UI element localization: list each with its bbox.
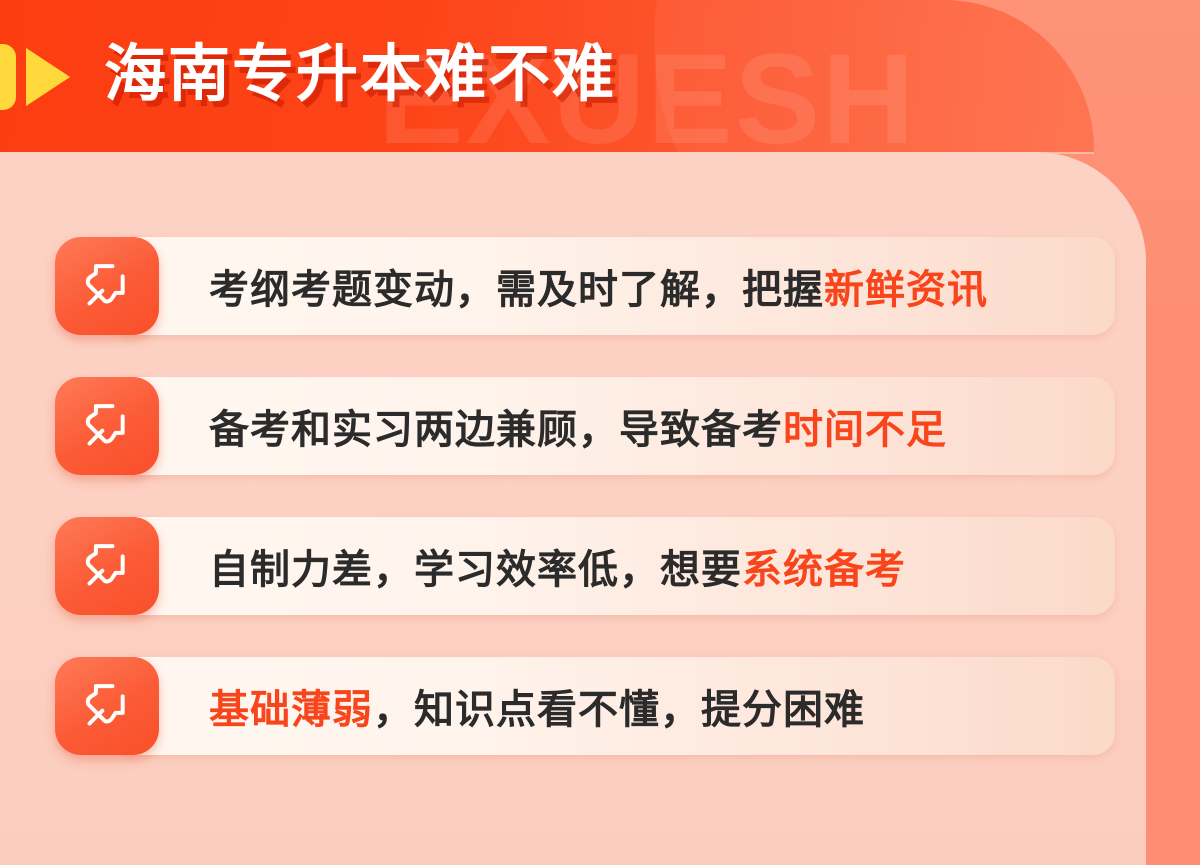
pushpin-icon — [55, 517, 159, 615]
card-text-plain: 自制力差，学习效率低，想要 — [209, 537, 742, 595]
poster-canvas: EXUESH 海南专升本难不难 考纲考题变动，需及时了解，把握新鲜资讯 — [0, 0, 1200, 865]
pushpin-icon — [55, 657, 159, 755]
card-text: 自制力差，学习效率低，想要系统备考 — [209, 517, 906, 615]
pushpin-icon — [55, 237, 159, 335]
header-banner: EXUESH 海南专升本难不难 — [0, 0, 1094, 152]
content-panel: 考纲考题变动，需及时了解，把握新鲜资讯 备考和实习两边兼顾，导致备考时间不足 — [0, 152, 1146, 865]
card-text-highlight: 新鲜资讯 — [824, 257, 988, 315]
card-text-plain: 备考和实习两边兼顾，导致备考 — [209, 397, 783, 455]
list-item[interactable]: 基础薄弱，知识点看不懂，提分困难 — [55, 657, 1115, 755]
card-text: 考纲考题变动，需及时了解，把握新鲜资讯 — [209, 237, 988, 335]
play-triangle-icon — [26, 48, 70, 106]
card-text-highlight: 时间不足 — [783, 397, 947, 455]
card-text: 备考和实习两边兼顾，导致备考时间不足 — [209, 377, 947, 475]
list-item[interactable]: 自制力差，学习效率低，想要系统备考 — [55, 517, 1115, 615]
list-item[interactable]: 备考和实习两边兼顾，导致备考时间不足 — [55, 377, 1115, 475]
card-text-highlight: 基础薄弱 — [209, 677, 373, 735]
pushpin-icon — [55, 377, 159, 475]
page-title: 海南专升本难不难 — [104, 42, 616, 109]
rounded-bar-icon — [0, 44, 16, 110]
card-text-plain: ，知识点看不懂，提分困难 — [373, 677, 865, 735]
card-text: 基础薄弱，知识点看不懂，提分困难 — [209, 657, 865, 755]
play-badge — [0, 44, 70, 110]
header-sheen-decoration — [654, 0, 1094, 152]
pain-point-list: 考纲考题变动，需及时了解，把握新鲜资讯 备考和实习两边兼顾，导致备考时间不足 — [55, 237, 1115, 797]
card-text-highlight: 系统备考 — [742, 537, 906, 595]
card-text-plain: 考纲考题变动，需及时了解，把握 — [209, 257, 824, 315]
list-item[interactable]: 考纲考题变动，需及时了解，把握新鲜资讯 — [55, 237, 1115, 335]
